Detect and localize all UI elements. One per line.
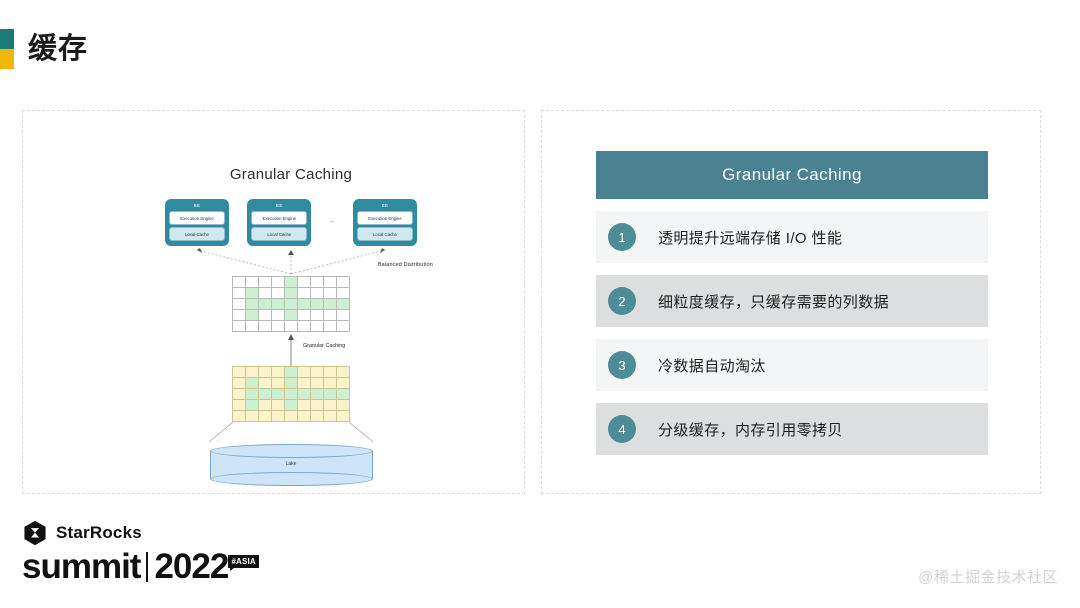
be-node-label: BE: [251, 202, 307, 209]
granular-caching-arrow: Granular Caching: [151, 332, 431, 366]
balanced-distribution-label: Balanced Distribution: [378, 262, 433, 268]
brand-row: StarRocks: [22, 520, 282, 546]
summit-word: summit: [22, 548, 140, 586]
execution-engine-box: Execution Engine: [357, 211, 413, 225]
footer-logo: StarRocks summit 2022 #ASIA: [22, 520, 282, 586]
be-node: BE Execution Engine Local Cache: [165, 199, 229, 246]
lake-grid-block: [151, 366, 431, 422]
cylinder-top: [210, 444, 373, 458]
cylinder-bottom: [210, 472, 373, 486]
starrocks-hexagon-icon: [22, 520, 48, 546]
local-cache-box: Local Cache: [251, 227, 307, 241]
summit-year: 2022: [154, 548, 228, 586]
local-cache-box: Local Cache: [357, 227, 413, 241]
lake-grid: [232, 366, 350, 422]
item-label: 透明提升远端存储 I/O 性能: [658, 227, 842, 248]
cache-grid: [232, 276, 350, 332]
slide-root: { "slide": { "title": "缓存", "accent_colo…: [0, 0, 1080, 608]
item-number-badge: 4: [608, 415, 636, 443]
watermark: @稀土掘金技术社区: [918, 566, 1058, 587]
lake-label: Lake: [210, 461, 373, 467]
summit-row: summit 2022 #ASIA: [22, 548, 282, 586]
be-node-label: BE: [357, 202, 413, 209]
item-label: 分级缓存，内存引用零拷贝: [658, 419, 843, 440]
item-label: 冷数据自动淘汰: [658, 355, 766, 376]
diagram-title: Granular Caching: [151, 166, 431, 183]
be-node: BE Execution Engine Local Cache: [353, 199, 417, 246]
title-accent-bar: [0, 29, 14, 69]
list-item[interactable]: 1 透明提升远端存储 I/O 性能: [596, 211, 988, 263]
up-arrow-svg: [285, 332, 297, 366]
ellipsis-label: ...: [330, 218, 335, 228]
accent-bar-top: [0, 29, 14, 49]
granular-caching-label: Granular Caching: [303, 343, 345, 349]
list-item[interactable]: 2 细粒度缓存，只缓存需要的列数据: [596, 275, 988, 327]
lake-funnel-lines: [151, 422, 431, 444]
list-item[interactable]: 4 分级缓存，内存引用零拷贝: [596, 403, 988, 455]
architecture-diagram: Granular Caching BE Execution Engine Loc…: [151, 166, 431, 476]
list-item[interactable]: 3 冷数据自动淘汰: [596, 339, 988, 391]
distribution-arrows: Balanced Distribution: [151, 246, 431, 276]
cache-grid-block: [151, 276, 431, 332]
execution-engine-box: Execution Engine: [251, 211, 307, 225]
item-number-badge: 2: [608, 287, 636, 315]
funnel-svg: [151, 422, 431, 444]
brand-name: StarRocks: [56, 523, 142, 543]
lake-cylinder-wrap: Lake: [151, 444, 431, 486]
feature-list-header-title: Granular Caching: [722, 165, 862, 185]
page-title: 缓存: [28, 28, 88, 70]
execution-engine-box: Execution Engine: [169, 211, 225, 225]
summit-divider: [146, 552, 148, 582]
right-panel: Granular Caching 1 透明提升远端存储 I/O 性能 2 细粒度…: [541, 110, 1041, 494]
be-node: BE Execution Engine Local Cache: [247, 199, 311, 246]
be-node-row: BE Execution Engine Local Cache BE Execu…: [151, 199, 431, 246]
item-label: 细粒度缓存，只缓存需要的列数据: [658, 291, 889, 312]
region-badge: #ASIA: [228, 555, 259, 568]
local-cache-box: Local Cache: [169, 227, 225, 241]
feature-list: Granular Caching 1 透明提升远端存储 I/O 性能 2 细粒度…: [596, 151, 988, 455]
left-panel: Granular Caching BE Execution Engine Loc…: [22, 110, 525, 494]
item-number-badge: 3: [608, 351, 636, 379]
lake-cylinder: Lake: [210, 444, 373, 486]
fan-arrow-svg: [151, 246, 431, 276]
be-node-label: BE: [169, 202, 225, 209]
accent-bar-bottom: [0, 49, 14, 69]
feature-list-header: Granular Caching: [596, 151, 988, 199]
item-number-badge: 1: [608, 223, 636, 251]
